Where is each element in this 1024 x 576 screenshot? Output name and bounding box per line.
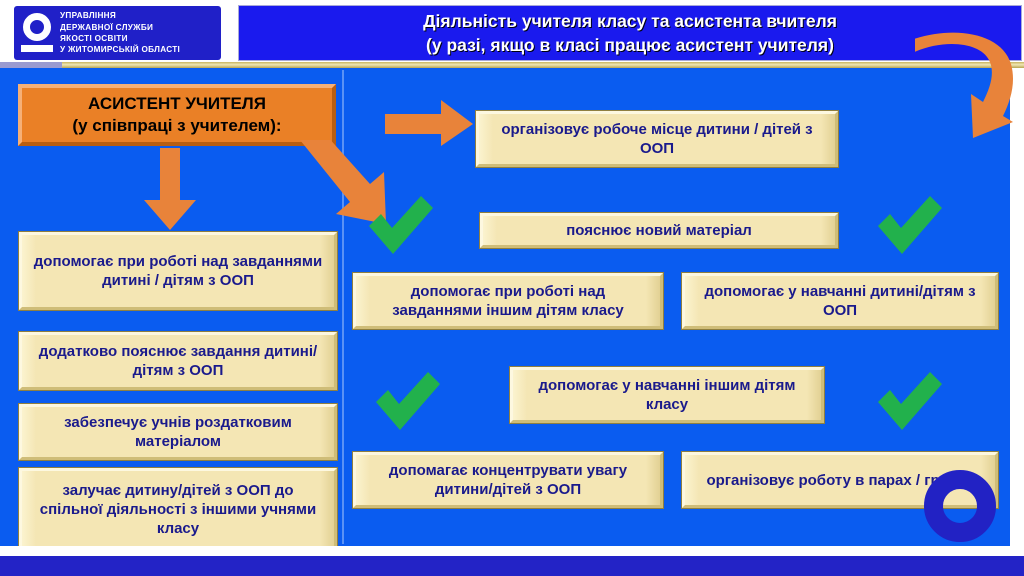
right-item-6: допомагає концентрувати увагу дитини/діт… (353, 452, 663, 508)
slide-root: УПРАВЛІННЯ ДЕРЖАВНОЇ СЛУЖБИ ЯКОСТІ ОСВІТ… (0, 0, 1024, 576)
heading-line-1: АСИСТЕНТ УЧИТЕЛЯ (88, 94, 266, 113)
left-item-4: залучає дитину/дітей з ООП до спільної д… (19, 468, 337, 550)
page-title: Діяльність учителя класу та асистента вч… (409, 9, 851, 57)
header-band: УПРАВЛІННЯ ДЕРЖАВНОЇ СЛУЖБИ ЯКОСТІ ОСВІТ… (0, 0, 1024, 66)
organization-logo-text: УПРАВЛІННЯ ДЕРЖАВНОЇ СЛУЖБИ ЯКОСТІ ОСВІТ… (60, 10, 180, 56)
footer-accent-bar (0, 556, 1024, 576)
arrow-curved-down-left-icon (915, 26, 1024, 156)
heading-line-2: (у співпраці з учителем): (72, 116, 281, 135)
assistant-teacher-heading: АСИСТЕНТ УЧИТЕЛЯ (у співпраці з учителем… (18, 84, 336, 146)
left-item-3: забезпечує учнів роздатковим матеріалом (19, 404, 337, 460)
right-item-5: допомогає у навчанні іншим дітям класу (510, 367, 824, 423)
right-item-4: допомогає у навчанні дитині/дітям з ООП (682, 273, 998, 329)
arrow-down-icon (140, 148, 200, 232)
check-mark-icon (874, 196, 946, 258)
check-mark-icon (874, 372, 946, 434)
check-mark-icon (365, 196, 437, 258)
right-item-1: організовує робоче місце дитини / дітей … (476, 111, 838, 167)
logo-line-1: УПРАВЛІННЯ (60, 10, 180, 21)
logo-line-4: У ЖИТОМИРСЬКІЙ ОБЛАСТІ (60, 44, 180, 55)
slide-title-banner: Діяльність учителя класу та асистента вч… (238, 5, 1022, 61)
title-line-1: Діяльність учителя класу та асистента вч… (423, 9, 837, 33)
left-item-1: допомогає при роботі над завданнями дити… (19, 232, 337, 310)
right-item-3: допомогає при роботі над завданнями інши… (353, 273, 663, 329)
logo-line-3: ЯКОСТІ ОСВІТИ (60, 33, 180, 44)
organization-logo: УПРАВЛІННЯ ДЕРЖАВНОЇ СЛУЖБИ ЯКОСТІ ОСВІТ… (14, 6, 221, 60)
right-item-2: пояснює новий матеріал (480, 213, 838, 248)
arrow-right-icon (385, 100, 475, 148)
left-item-2: додатково пояснює завдання дитині/ дітям… (19, 332, 337, 390)
check-mark-icon (372, 372, 444, 434)
ring-logo-icon (20, 10, 54, 56)
title-line-2: (у разі, якщо в класі працює асистент уч… (423, 33, 837, 57)
logo-line-2: ДЕРЖАВНОЇ СЛУЖБИ (60, 22, 180, 33)
corner-ring-logo-icon (924, 470, 996, 542)
